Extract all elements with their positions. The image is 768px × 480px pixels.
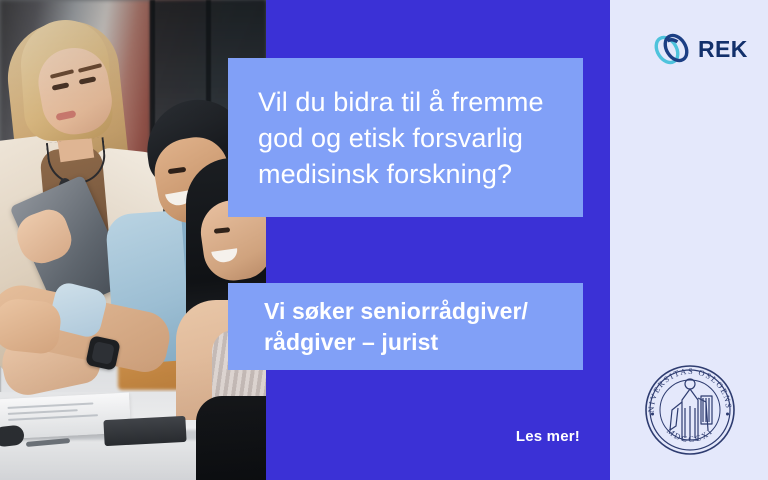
rek-wordmark: REK xyxy=(698,38,748,61)
job-title-line-1: Vi søker seniorrådgiver/ xyxy=(264,296,528,327)
campaign-banner: Vil du bidra til å fremme god og etisk f… xyxy=(0,0,768,480)
headline-text: Vil du bidra til å fremme god og etisk f… xyxy=(228,84,574,192)
headline-line-1: Vil du bidra til å fremme xyxy=(258,84,544,120)
headline-line-2: god og etisk forsvarlig xyxy=(258,120,544,156)
university-of-oslo-seal-icon: UNIVERSITAS OSLOENSIS MDCCCXI xyxy=(638,358,742,462)
photo-vignette xyxy=(0,0,266,480)
job-title-text: Vi søker seniorrådgiver/ rådgiver – juri… xyxy=(228,296,564,358)
read-more-link[interactable]: Les mer! xyxy=(430,428,580,445)
interlocking-rings-icon xyxy=(650,27,694,71)
headline-line-3: medisinsk forskning? xyxy=(258,156,544,192)
job-title-box: Vi søker seniorrådgiver/ rådgiver – juri… xyxy=(228,283,583,370)
job-title-line-2: rådgiver – jurist xyxy=(264,327,528,358)
rek-logo: REK xyxy=(650,26,760,72)
logo-panel: REK UNIVERSITAS OSLOENSIS MDCCCXI xyxy=(610,0,768,480)
hero-photo xyxy=(0,0,266,480)
headline-box: Vil du bidra til å fremme god og etisk f… xyxy=(228,58,583,217)
